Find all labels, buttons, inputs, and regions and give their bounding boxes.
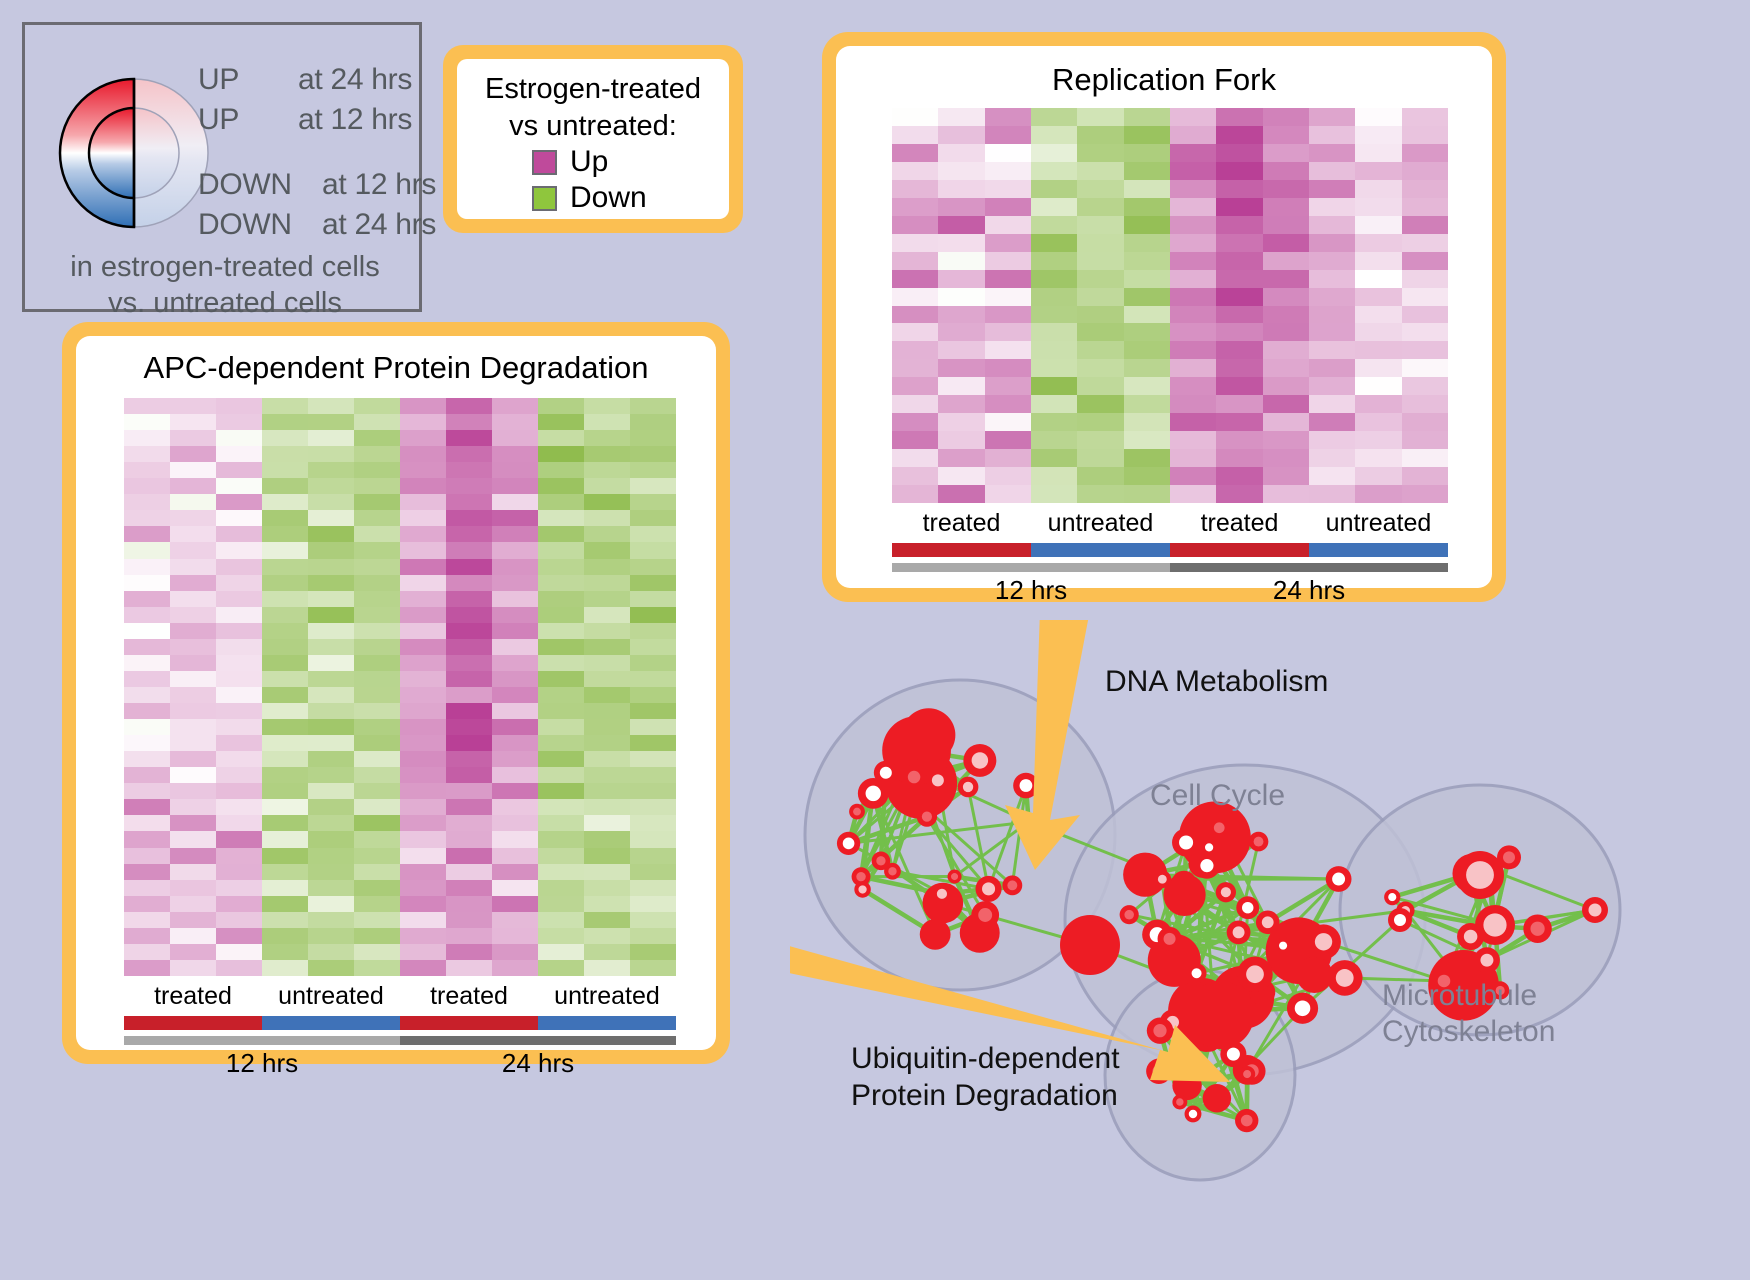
- heatmap-cell: [1402, 377, 1448, 395]
- heatmap-cell: [400, 815, 446, 831]
- heatmap-cell: [354, 864, 400, 880]
- heatmap-cell: [492, 944, 538, 960]
- legend-title: Estrogen-treated vs untreated:: [457, 71, 729, 145]
- heatmap-cell: [1031, 234, 1077, 252]
- heatmap-cell: [538, 928, 584, 944]
- heatmap-cell: [892, 162, 938, 180]
- heatmap-cell: [1124, 377, 1170, 395]
- heatmap-cell: [492, 639, 538, 655]
- heatmap-cell: [630, 430, 676, 446]
- heatmap-colour-legend-panel: Estrogen-treated vs untreated: Up Down: [443, 45, 743, 233]
- heatmap-cell: [538, 671, 584, 687]
- heatmap-cell: [170, 703, 216, 719]
- heatmap-cell: [1124, 270, 1170, 288]
- condition-label: treated: [892, 509, 1031, 541]
- heatmap-cell: [400, 719, 446, 735]
- heatmap-cell: [124, 912, 170, 928]
- heatmap-cell: [538, 430, 584, 446]
- heatmap-cell: [124, 960, 170, 976]
- heatmap-cell: [400, 462, 446, 478]
- heatmap-cell: [985, 216, 1031, 234]
- heatmap-cell: [124, 783, 170, 799]
- heatmap-cell: [892, 449, 938, 467]
- heatmap-cell: [985, 341, 1031, 359]
- heatmap-cell: [538, 767, 584, 783]
- heatmap-cell: [1216, 108, 1262, 126]
- heatmap-cell: [938, 431, 984, 449]
- heatmap-cell: [985, 252, 1031, 270]
- heatmap-cell: [1402, 198, 1448, 216]
- heatmap-cell: [938, 288, 984, 306]
- heatmap-cell: [308, 831, 354, 847]
- heatmap-cell: [584, 815, 630, 831]
- timepoint-label: 24 hrs: [1170, 575, 1448, 607]
- heatmap-cell: [538, 864, 584, 880]
- heatmap-cell: [1077, 270, 1123, 288]
- heatmap-cell: [1124, 162, 1170, 180]
- heatmap-cell: [354, 912, 400, 928]
- heatmap-cell: [1077, 377, 1123, 395]
- heatmap-cell: [630, 848, 676, 864]
- heatmap-cell: [1216, 359, 1262, 377]
- heatmap-cell: [124, 414, 170, 430]
- heatmap-cell: [492, 864, 538, 880]
- heatmap-cell: [584, 607, 630, 623]
- heatmap-cell: [1124, 144, 1170, 162]
- heatmap-cell: [170, 799, 216, 815]
- cluster-label-cell-cycle: Cell Cycle: [1150, 779, 1285, 813]
- heatmap-cell: [308, 575, 354, 591]
- wheel-time-3: at 24 hrs: [322, 208, 436, 242]
- heatmap-cell: [1216, 413, 1262, 431]
- heatmap-cell: [446, 430, 492, 446]
- heatmap-cell: [1124, 413, 1170, 431]
- heatmap-cell: [1355, 252, 1401, 270]
- heatmap-cell: [538, 398, 584, 414]
- heatmap-cell: [354, 671, 400, 687]
- heatmap-cell: [1309, 431, 1355, 449]
- heatmap-cell: [1170, 306, 1216, 324]
- heatmap-cell: [354, 510, 400, 526]
- heatmap-cell: [584, 542, 630, 558]
- heatmap-cell: [308, 526, 354, 542]
- heatmap-cell: [308, 607, 354, 623]
- heatmap-cell: [446, 719, 492, 735]
- heatmap-cell: [400, 799, 446, 815]
- heatmap-cell: [308, 446, 354, 462]
- heatmap-cell: [1263, 162, 1309, 180]
- heatmap-cell: [400, 703, 446, 719]
- heatmap-cell: [354, 767, 400, 783]
- heatmap-cell: [446, 944, 492, 960]
- heatmap-cell: [400, 526, 446, 542]
- network-node: [1158, 927, 1182, 951]
- heatmap-cell: [1263, 359, 1309, 377]
- network-node: [1296, 957, 1332, 993]
- heatmap-cell: [400, 559, 446, 575]
- heatmap-cell: [584, 783, 630, 799]
- heatmap-cell: [1031, 449, 1077, 467]
- heatmap-cell: [354, 607, 400, 623]
- heatmap-cell: [1309, 323, 1355, 341]
- heatmap-cell: [1216, 252, 1262, 270]
- heatmap-cell: [400, 912, 446, 928]
- heatmap-cell: [446, 575, 492, 591]
- network-node: [1060, 915, 1120, 975]
- heatmap-cell: [538, 575, 584, 591]
- heatmap-cell: [216, 719, 262, 735]
- network-node: [1256, 911, 1280, 935]
- heatmap-cell: [1402, 413, 1448, 431]
- heatmap-cell: [1031, 413, 1077, 431]
- heatmap-cell: [1031, 162, 1077, 180]
- heatmap-cell: [1216, 377, 1262, 395]
- heatmap-cell: [1170, 485, 1216, 503]
- heatmap-cell: [1355, 359, 1401, 377]
- heatmap-cell: [1309, 270, 1355, 288]
- heatmap-cell: [630, 767, 676, 783]
- heatmap-cell: [1077, 359, 1123, 377]
- timepoint-labels-apc: 12 hrs24 hrs: [124, 1048, 676, 1080]
- heatmap-cell: [892, 288, 938, 306]
- heatmap-cell: [400, 944, 446, 960]
- network-node: [1306, 924, 1341, 959]
- heatmap-cell: [630, 896, 676, 912]
- timepoint-bar-segment: [1170, 563, 1448, 572]
- heatmap-cell: [1355, 216, 1401, 234]
- heatmap-cell: [538, 944, 584, 960]
- heatmap-cell: [400, 446, 446, 462]
- heatmap-cell: [308, 912, 354, 928]
- heatmap-cell: [1031, 323, 1077, 341]
- heatmap-cell: [1031, 395, 1077, 413]
- heatmap-cell: [446, 542, 492, 558]
- heatmap-cell: [1263, 216, 1309, 234]
- condition-label: treated: [124, 982, 262, 1014]
- heatmap-cell: [400, 831, 446, 847]
- heatmap-cell: [308, 510, 354, 526]
- heatmap-cell: [492, 671, 538, 687]
- heatmap-cell: [538, 831, 584, 847]
- heatmap-cell: [1263, 234, 1309, 252]
- heatmap-cell: [262, 478, 308, 494]
- heatmap-cell: [1309, 467, 1355, 485]
- heatmap-cell: [538, 848, 584, 864]
- heatmap-cell: [1170, 395, 1216, 413]
- heatmap-cell: [446, 864, 492, 880]
- heatmap-cell: [216, 864, 262, 880]
- condition-bar-segment: [538, 1016, 676, 1030]
- heatmap-cell: [170, 896, 216, 912]
- heatmap-cell: [584, 623, 630, 639]
- heatmap-cell: [1170, 108, 1216, 126]
- heatmap-cell: [892, 485, 938, 503]
- heatmap-cell: [446, 703, 492, 719]
- heatmap-cell: [584, 848, 630, 864]
- network-node: [917, 806, 937, 826]
- heatmap-cell: [1077, 323, 1123, 341]
- heatmap-cell: [400, 430, 446, 446]
- heatmap-cell: [308, 478, 354, 494]
- heatmap-cell: [308, 462, 354, 478]
- heatmap-cell: [630, 655, 676, 671]
- heatmap-cell: [985, 108, 1031, 126]
- heatmap-cell: [308, 799, 354, 815]
- network-node: [837, 832, 860, 855]
- heatmap-cell: [1263, 485, 1309, 503]
- heatmap-cell: [538, 912, 584, 928]
- heatmap-cell: [892, 467, 938, 485]
- heatmap-cell: [1170, 341, 1216, 359]
- heatmap-cell: [354, 735, 400, 751]
- heatmap-cell: [584, 398, 630, 414]
- heatmap-cell: [400, 687, 446, 703]
- heatmap-cell: [1216, 341, 1262, 359]
- network-node: [1227, 920, 1251, 944]
- heatmap-cell: [446, 478, 492, 494]
- heatmap-cell: [354, 751, 400, 767]
- timepoint-bar-segment: [400, 1036, 676, 1045]
- network-node: [1172, 1095, 1187, 1110]
- heatmap-cell: [938, 359, 984, 377]
- heatmap-cell: [892, 180, 938, 198]
- heatmap-cell: [446, 896, 492, 912]
- heatmap-cell: [538, 751, 584, 767]
- heatmap-cell: [492, 478, 538, 494]
- heatmap-cell: [985, 306, 1031, 324]
- heatmap-cell: [354, 944, 400, 960]
- heatmap-cell: [1216, 126, 1262, 144]
- heatmap-cell: [354, 687, 400, 703]
- heatmap-cell: [985, 449, 1031, 467]
- heatmap-cell: [1031, 467, 1077, 485]
- heatmap-cell: [262, 896, 308, 912]
- heatmap-cell: [1402, 162, 1448, 180]
- heatmap-cell: [446, 559, 492, 575]
- heatmap-cell: [354, 703, 400, 719]
- heatmap-cell: [938, 252, 984, 270]
- heatmap-cell: [630, 735, 676, 751]
- heatmap-cell: [262, 430, 308, 446]
- heatmap-cell: [1216, 234, 1262, 252]
- heatmap-cell: [1077, 485, 1123, 503]
- heatmap-cell: [1031, 216, 1077, 234]
- heatmap-cell: [124, 639, 170, 655]
- heatmap-cell: [538, 799, 584, 815]
- legend-title-line2: vs untreated:: [457, 108, 729, 145]
- heatmap-cell: [1402, 467, 1448, 485]
- panel-apc-degradation: APC-dependent Protein Degradation treate…: [62, 322, 730, 1064]
- heatmap-cell: [1077, 198, 1123, 216]
- network-node: [1237, 956, 1272, 991]
- panel-replication-fork: Replication Fork treateduntreatedtreated…: [822, 32, 1506, 602]
- heatmap-cell: [1031, 288, 1077, 306]
- heatmap-cell: [584, 671, 630, 687]
- heatmap-cell: [1216, 270, 1262, 288]
- condition-label: untreated: [262, 982, 400, 1014]
- heatmap-cell: [1263, 306, 1309, 324]
- condition-label: treated: [400, 982, 538, 1014]
- network-node: [872, 851, 891, 870]
- network-node: [1208, 817, 1229, 838]
- heatmap-cell: [124, 591, 170, 607]
- heatmap-cell: [216, 430, 262, 446]
- heatmap-cell: [985, 198, 1031, 216]
- heatmap-cell: [124, 526, 170, 542]
- heatmap-cell: [446, 591, 492, 607]
- heatmap-cell: [216, 591, 262, 607]
- heatmap-cell: [938, 108, 984, 126]
- heatmap-cell: [1170, 431, 1216, 449]
- heatmap-cell: [538, 414, 584, 430]
- heatmap-cell: [446, 446, 492, 462]
- heatmap-cell: [938, 270, 984, 288]
- heatmap-cell: [1263, 395, 1309, 413]
- heatmap-cell: [308, 848, 354, 864]
- timepoint-label: 12 hrs: [892, 575, 1170, 607]
- heatmap-cell: [892, 341, 938, 359]
- heatmap-cell: [892, 126, 938, 144]
- heatmap-cell: [1263, 270, 1309, 288]
- network-node: [854, 881, 870, 897]
- heatmap-cell: [1355, 377, 1401, 395]
- heatmap-cell: [262, 767, 308, 783]
- heatmap-cell: [938, 198, 984, 216]
- condition-bar-segment: [892, 543, 1031, 557]
- network-node: [932, 884, 952, 904]
- heatmap-cell: [1124, 449, 1170, 467]
- heatmap-cell: [1077, 216, 1123, 234]
- heatmap-cell: [1263, 323, 1309, 341]
- heatmap-cell: [308, 559, 354, 575]
- heatmap-cell: [584, 510, 630, 526]
- heatmap-cell: [170, 414, 216, 430]
- heatmap-cell: [446, 398, 492, 414]
- heatmap-cell: [1355, 413, 1401, 431]
- heatmap-cell: [1216, 162, 1262, 180]
- heatmap-cell: [1170, 180, 1216, 198]
- heatmap-cell: [892, 144, 938, 162]
- heatmap-cell: [1124, 216, 1170, 234]
- network-node: [971, 901, 999, 929]
- heatmap-cell: [1216, 323, 1262, 341]
- heatmap-cell: [1263, 377, 1309, 395]
- heatmap-cell: [170, 767, 216, 783]
- heatmap-cell: [492, 751, 538, 767]
- heatmap-cell: [492, 398, 538, 414]
- legend-title-line1: Estrogen-treated: [457, 71, 729, 108]
- heatmap-cell: [400, 414, 446, 430]
- heatmap-cell: [170, 510, 216, 526]
- heatmap-cell: [354, 478, 400, 494]
- figure-canvas: UP at 24 hrs UP at 12 hrs DOWN at 12 hrs…: [0, 0, 1750, 1279]
- heatmap-cell: [985, 431, 1031, 449]
- heatmap-cell: [1170, 252, 1216, 270]
- heatmap-cell: [446, 880, 492, 896]
- heatmap-cell: [216, 414, 262, 430]
- heatmap-cell: [538, 494, 584, 510]
- heatmap-cell: [170, 928, 216, 944]
- heatmap-cell: [262, 542, 308, 558]
- network-node: [958, 777, 979, 798]
- heatmap-cell: [1355, 108, 1401, 126]
- heatmap-cell: [124, 751, 170, 767]
- heatmap-cell: [262, 912, 308, 928]
- heatmap-cell: [584, 799, 630, 815]
- heatmap-cell: [892, 413, 938, 431]
- heatmap-cell: [630, 639, 676, 655]
- heatmap-cell: [1170, 377, 1216, 395]
- heatmap-cell: [630, 607, 676, 623]
- heatmap-cell: [216, 767, 262, 783]
- heatmap-cell: [170, 494, 216, 510]
- heatmap-cell: [400, 671, 446, 687]
- heatmap-cell: [584, 944, 630, 960]
- heatmap-cell: [985, 413, 1031, 431]
- network-node: [920, 919, 951, 950]
- heatmap-cell: [1309, 306, 1355, 324]
- heatmap-cell: [216, 687, 262, 703]
- heatmap-cell: [308, 703, 354, 719]
- heatmap-cell: [170, 655, 216, 671]
- heatmap-cell: [1124, 485, 1170, 503]
- cluster-label-ubiquitin-degradation: Ubiquitin-dependent Protein Degradation: [851, 1040, 1120, 1114]
- legend-swatch-down-icon: [532, 186, 557, 211]
- heatmap-cell: [1402, 288, 1448, 306]
- network-node: [1474, 947, 1500, 973]
- heatmap-cell: [1309, 234, 1355, 252]
- heatmap-cell: [1216, 180, 1262, 198]
- heatmap-cell: [124, 848, 170, 864]
- heatmap-cell: [1402, 126, 1448, 144]
- network-node: [1153, 870, 1171, 888]
- heatmap-cell: [1402, 306, 1448, 324]
- heatmap-cell: [538, 542, 584, 558]
- heatmap-cell: [446, 735, 492, 751]
- heatmap-cell: [492, 783, 538, 799]
- heatmap-cell: [262, 848, 308, 864]
- heatmap-cell: [354, 430, 400, 446]
- heatmap-cell: [1170, 323, 1216, 341]
- heatmap-cell: [1170, 359, 1216, 377]
- heatmap-cell: [354, 591, 400, 607]
- heatmap-cell: [1031, 144, 1077, 162]
- heatmap-cell: [124, 607, 170, 623]
- legend-label-down: Down: [570, 183, 647, 213]
- heatmap-cell: [1077, 108, 1123, 126]
- heatmap-cell: [538, 655, 584, 671]
- heatmap-cell: [170, 687, 216, 703]
- heatmap-cell: [492, 591, 538, 607]
- network-node: [1523, 914, 1551, 942]
- heatmap-cell: [492, 831, 538, 847]
- heatmap-cell: [1124, 234, 1170, 252]
- heatmap-cell: [308, 414, 354, 430]
- heatmap-cell: [584, 655, 630, 671]
- network-diagram: [790, 620, 1750, 1280]
- heatmap-cell: [892, 323, 938, 341]
- heatmap-cell: [216, 655, 262, 671]
- heatmap-cell: [170, 478, 216, 494]
- network-node: [1384, 889, 1400, 905]
- heatmap-cell: [584, 703, 630, 719]
- heatmap-cell: [1309, 126, 1355, 144]
- heatmap-cell: [538, 639, 584, 655]
- network-node: [1582, 897, 1608, 923]
- heatmap-cell: [446, 751, 492, 767]
- heatmap-cell: [492, 928, 538, 944]
- heatmap-cell: [1355, 306, 1401, 324]
